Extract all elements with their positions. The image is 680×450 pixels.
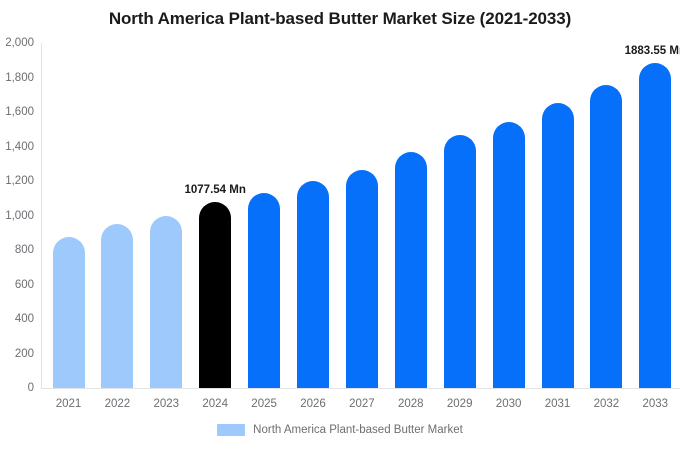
x-axis-tick-labels: 2021202220232024202520262027202820292030… xyxy=(41,398,680,416)
legend-swatch-icon xyxy=(217,424,245,436)
y-axis-tick: 400 xyxy=(0,313,34,325)
chart-legend: North America Plant-based Butter Market xyxy=(0,424,680,436)
bar[interactable] xyxy=(639,63,671,388)
x-axis-tick: 2031 xyxy=(534,398,582,410)
chart-container: North America Plant-based Butter Market … xyxy=(0,0,680,450)
bar[interactable] xyxy=(346,170,378,388)
bar[interactable] xyxy=(493,122,525,388)
legend-label: North America Plant-based Butter Market xyxy=(253,424,463,436)
x-axis-tick: 2032 xyxy=(582,398,630,410)
x-axis-tick: 2025 xyxy=(240,398,288,410)
bar[interactable] xyxy=(444,135,476,388)
y-axis-tick: 600 xyxy=(0,279,34,291)
x-axis-tick: 2028 xyxy=(387,398,435,410)
y-axis-tick: 1,800 xyxy=(0,72,34,84)
plot-area xyxy=(41,43,680,388)
chart-title: North America Plant-based Butter Market … xyxy=(0,9,680,29)
x-axis-tick: 2029 xyxy=(436,398,484,410)
bar[interactable] xyxy=(199,202,231,388)
bar[interactable] xyxy=(542,103,574,388)
x-axis-tick: 2022 xyxy=(93,398,141,410)
y-axis-tick: 1,200 xyxy=(0,175,34,187)
bar-value-label: 1077.54 Mn xyxy=(185,184,246,196)
bar[interactable] xyxy=(248,193,280,388)
bar[interactable] xyxy=(150,216,182,388)
bar[interactable] xyxy=(101,224,133,388)
y-axis-tick: 200 xyxy=(0,348,34,360)
x-axis-tick: 2021 xyxy=(45,398,93,410)
bar-value-label: 1883.55 Mn xyxy=(625,45,680,57)
x-axis-tick: 2030 xyxy=(485,398,533,410)
bar-series xyxy=(41,43,680,388)
legend-item[interactable]: North America Plant-based Butter Market xyxy=(217,424,463,436)
x-axis-tick: 2027 xyxy=(338,398,386,410)
x-axis-tick: 2024 xyxy=(191,398,239,410)
bar[interactable] xyxy=(297,181,329,388)
y-axis-tick: 2,000 xyxy=(0,37,34,49)
x-axis-line xyxy=(41,388,680,389)
bar[interactable] xyxy=(590,85,622,388)
y-axis-tick: 1,000 xyxy=(0,210,34,222)
x-axis-tick: 2033 xyxy=(631,398,679,410)
y-axis-tick: 1,600 xyxy=(0,106,34,118)
x-axis-tick: 2026 xyxy=(289,398,337,410)
bar[interactable] xyxy=(53,237,85,388)
y-axis-tick: 800 xyxy=(0,244,34,256)
x-axis-tick: 2023 xyxy=(142,398,190,410)
y-axis-tick: 0 xyxy=(0,382,34,394)
y-axis-tick: 1,400 xyxy=(0,141,34,153)
bar[interactable] xyxy=(395,152,427,388)
